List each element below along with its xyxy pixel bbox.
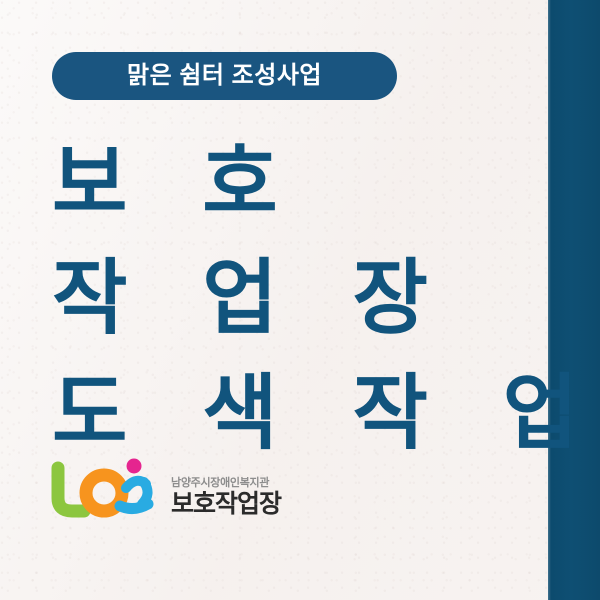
headline-line-1: 보 호 (52, 126, 522, 241)
program-badge-label: 맑은 쉼터 조성사업 (127, 64, 322, 88)
headline-line-3: 도 색 작 업 (52, 356, 522, 471)
organization-logo: 남양주시장애인복지관 보호작업장 (48, 458, 281, 520)
logo-organization-name: 남양주시장애인복지관 (171, 477, 281, 489)
headline-line-2: 작 업 장 (52, 241, 522, 356)
logo-mark-icon (48, 458, 160, 520)
right-accent-band-edge (548, 0, 551, 600)
program-badge: 맑은 쉼터 조성사업 (52, 52, 397, 100)
right-accent-band (548, 0, 600, 600)
logo-facility-name: 보호작업장 (171, 491, 281, 517)
headline-block: 보 호 작 업 장 도 색 작 업 (52, 126, 522, 471)
poster-canvas: 맑은 쉼터 조성사업 보 호 작 업 장 도 색 작 업 남양주시장애인복지관 … (0, 0, 600, 600)
logo-wordmark: 남양주시장애인복지관 보호작업장 (171, 477, 281, 520)
